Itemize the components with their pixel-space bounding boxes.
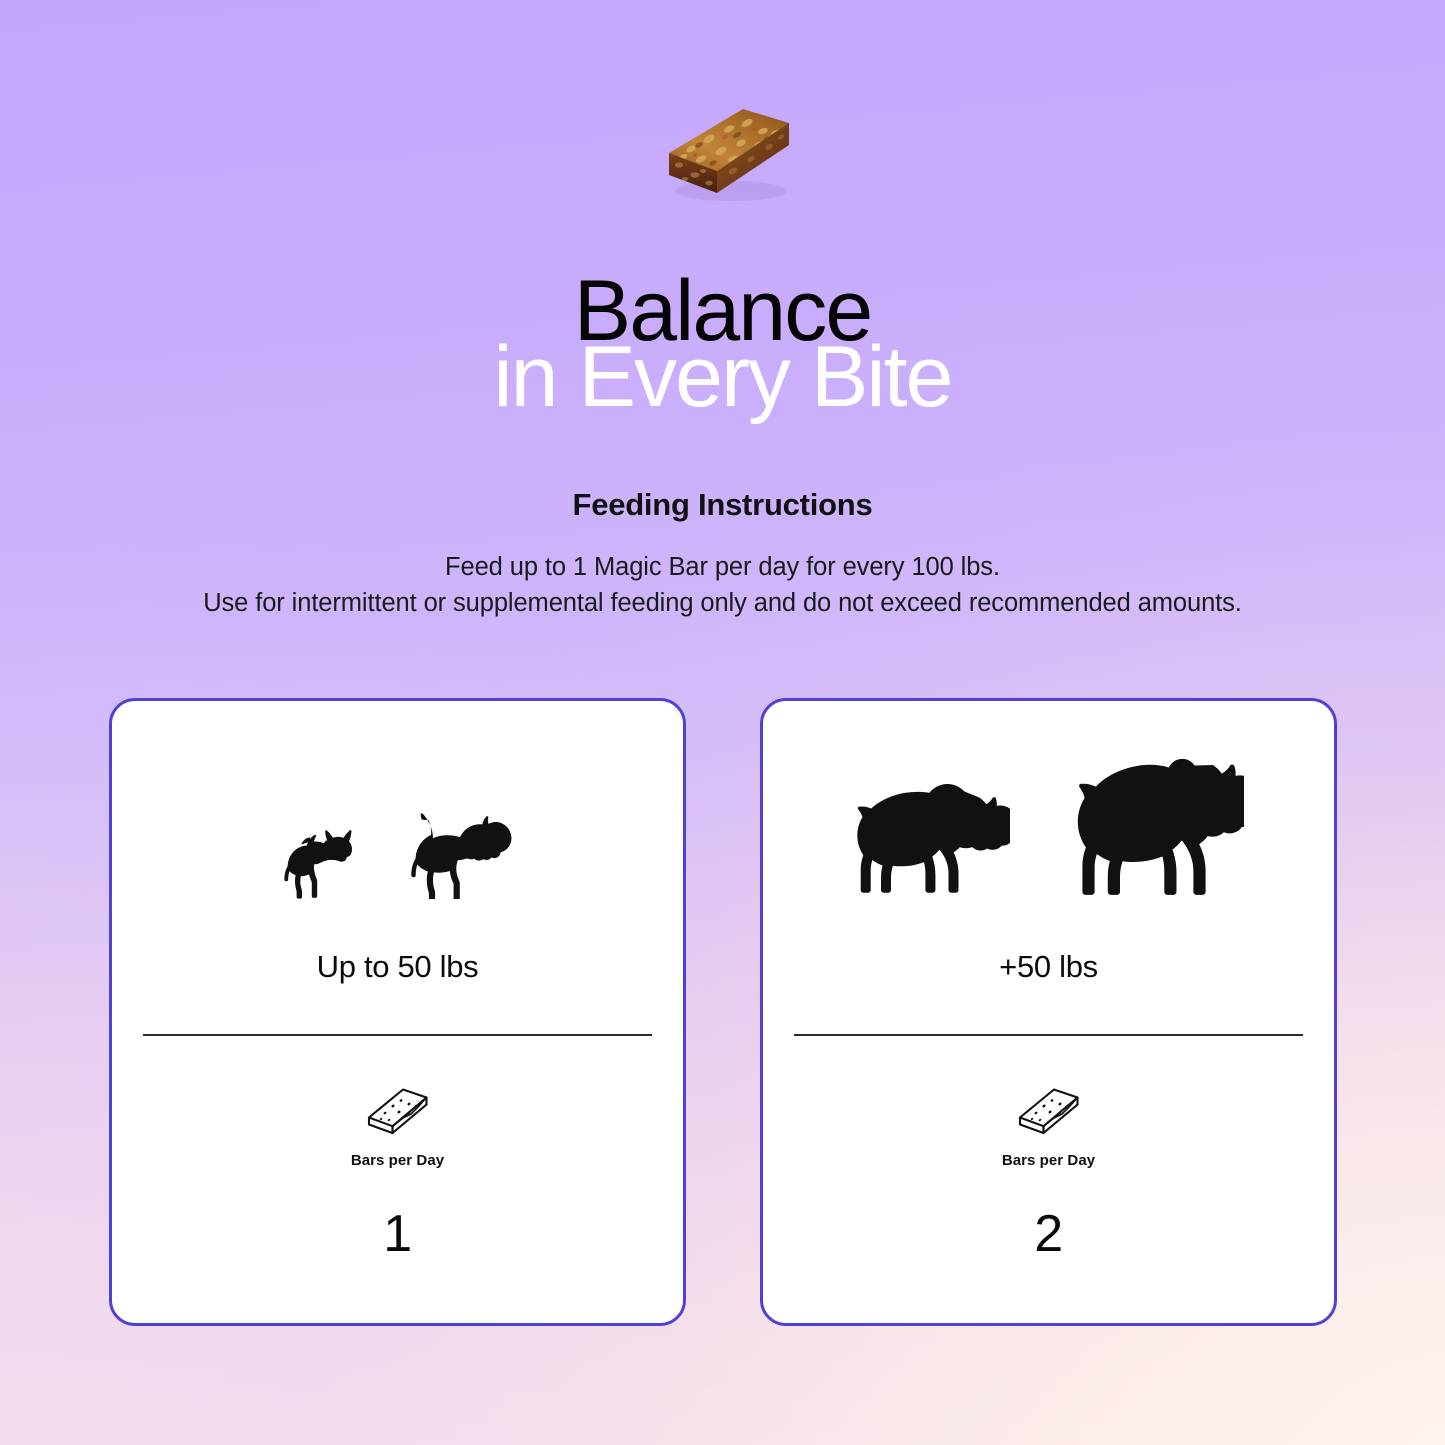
feeding-cards: Up to 50 lbs [109, 698, 1337, 1326]
bars-per-day-count: 2 [1034, 1208, 1062, 1260]
feeding-instructions-line-2: Use for intermittent or supplemental fee… [0, 586, 1445, 622]
labrador-silhouette [854, 779, 1010, 897]
card-divider [794, 1034, 1303, 1036]
bar-icon-container [365, 1079, 431, 1141]
feeding-card-over-50[interactable]: +50 lbs [760, 698, 1337, 1326]
bar-outline-icon [1016, 1084, 1082, 1136]
beagle-silhouette [407, 813, 513, 899]
headline: in Every Bite Balance [0, 268, 1445, 438]
mastiff-silhouette [1054, 757, 1244, 897]
dog-silhouette-row [112, 701, 683, 913]
feeding-instructions-line-1: Feed up to 1 Magic Bar per day for every… [0, 550, 1445, 586]
weight-label: Up to 50 lbs [317, 951, 479, 982]
hero-bar-container [0, 72, 1445, 222]
headline-primary: Balance [0, 268, 1445, 354]
card-divider [143, 1034, 652, 1036]
feeding-card-up-to-50[interactable]: Up to 50 lbs [109, 698, 686, 1326]
dog-silhouette-row [763, 701, 1334, 913]
bar-outline-icon [365, 1084, 431, 1136]
feeding-instructions: Feeding Instructions Feed up to 1 Magic … [0, 488, 1445, 621]
feeding-instructions-page: in Every Bite Balance Feeding Instructio… [0, 0, 1445, 1445]
bar-icon-container [1016, 1079, 1082, 1141]
chihuahua-silhouette [283, 825, 355, 899]
bars-per-day-label: Bars per Day [1002, 1153, 1095, 1168]
bars-per-day-count: 1 [383, 1208, 411, 1260]
bars-per-day-label: Bars per Day [351, 1153, 444, 1168]
magic-bar-photo [639, 87, 807, 207]
weight-label: +50 lbs [999, 951, 1098, 982]
feeding-instructions-title: Feeding Instructions [0, 488, 1445, 522]
